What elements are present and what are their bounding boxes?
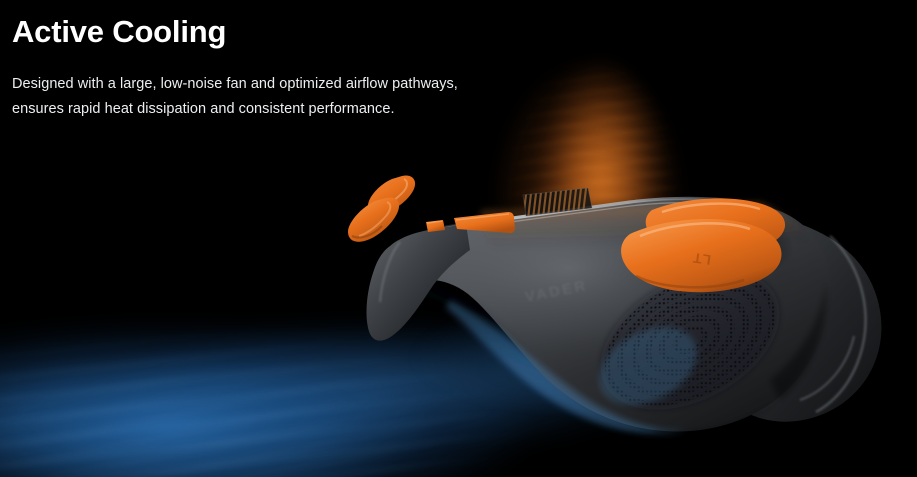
description-line-2: ensures rapid heat dissipation and consi…: [12, 97, 458, 122]
page-title: Active Cooling: [12, 14, 458, 50]
description-line-1: Designed with a large, low-noise fan and…: [12, 72, 458, 97]
feature-copy-block: Active Cooling Designed with a large, lo…: [12, 14, 458, 122]
left-shoulder-triggers[interactable]: [348, 175, 415, 241]
top-edge-buttons[interactable]: [426, 212, 515, 233]
right-trigger-label: LT: [691, 250, 712, 269]
feature-description: Designed with a large, low-noise fan and…: [12, 72, 458, 122]
active-cooling-feature-section: VADER: [0, 0, 917, 477]
handheld-console-image: VADER: [330, 150, 917, 450]
